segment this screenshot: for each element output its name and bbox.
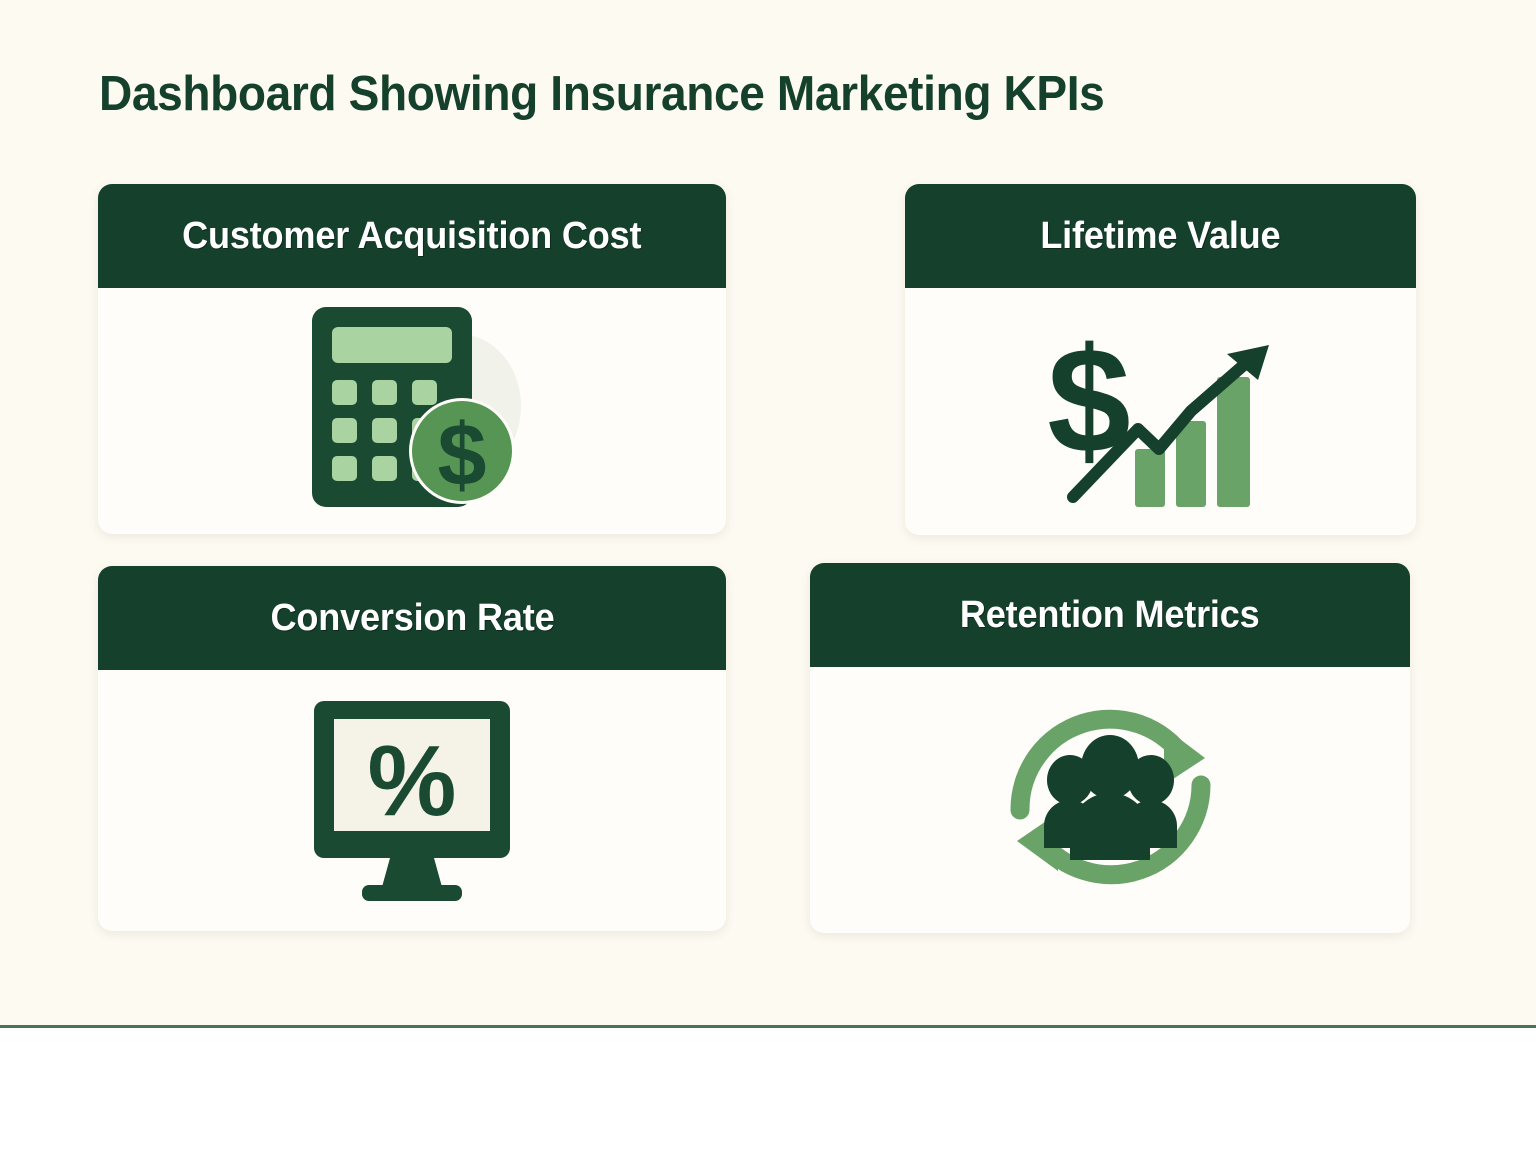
monitor-percent-icon: % bbox=[292, 691, 532, 911]
people-refresh-cycle-icon bbox=[998, 685, 1223, 915]
calculator-dollar-icon: $ bbox=[287, 296, 537, 526]
card-body-lifetime-value: $ bbox=[905, 288, 1416, 535]
card-header-lifetime-value: Lifetime Value bbox=[905, 184, 1416, 288]
card-header-conversion-rate: Conversion Rate bbox=[98, 566, 726, 670]
card-title-label: Retention Metrics bbox=[960, 594, 1260, 637]
card-body-retention-metrics bbox=[810, 667, 1410, 933]
kpi-card-lifetime-value[interactable]: Lifetime Value $ bbox=[905, 184, 1416, 535]
card-body-conversion-rate: % bbox=[98, 670, 726, 931]
footer-bar: AQ Marketing aqmarketing.com bbox=[0, 1028, 1536, 1154]
kpi-card-conversion-rate[interactable]: Conversion Rate % bbox=[98, 566, 726, 931]
kpi-card-customer-acquisition-cost[interactable]: Customer Acquisition Cost bbox=[98, 184, 726, 534]
kpi-card-retention-metrics[interactable]: Retention Metrics bbox=[810, 563, 1410, 933]
card-title-label: Lifetime Value bbox=[1040, 215, 1280, 258]
dollar-growth-chart-icon: $ bbox=[1031, 309, 1291, 514]
main-canvas: Dashboard Showing Insurance Marketing KP… bbox=[0, 0, 1536, 1025]
card-title-label: Customer Acquisition Cost bbox=[182, 215, 641, 258]
page-title: Dashboard Showing Insurance Marketing KP… bbox=[99, 66, 1104, 122]
card-header-customer-acquisition-cost: Customer Acquisition Cost bbox=[98, 184, 726, 288]
card-title-label: Conversion Rate bbox=[270, 597, 554, 640]
card-body-customer-acquisition-cost: $ bbox=[98, 288, 726, 534]
card-header-retention-metrics: Retention Metrics bbox=[810, 563, 1410, 667]
svg-text:%: % bbox=[368, 725, 457, 837]
svg-text:$: $ bbox=[1047, 316, 1130, 484]
svg-text:$: $ bbox=[438, 405, 487, 504]
dashboard-page: Dashboard Showing Insurance Marketing KP… bbox=[0, 0, 1536, 1154]
